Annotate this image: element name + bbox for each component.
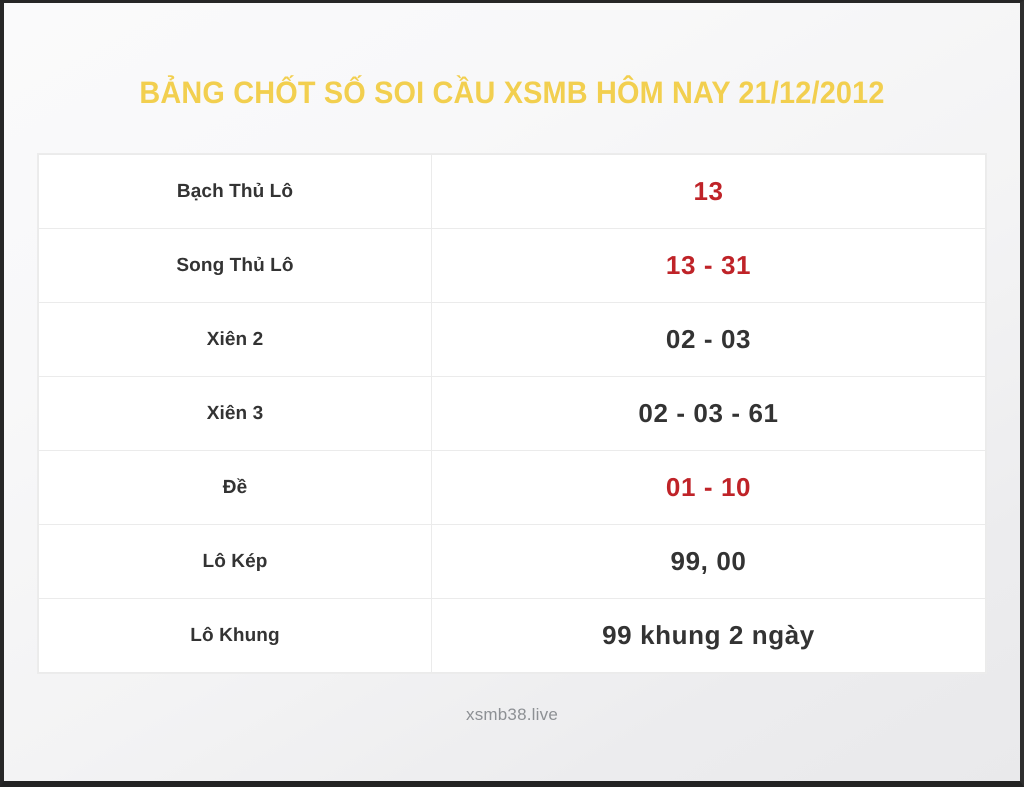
row-label: Xiên 3 xyxy=(39,377,432,451)
row-value: 99, 00 xyxy=(432,525,986,599)
table-row: Bạch Thủ Lô 13 xyxy=(39,155,986,229)
row-label: Xiên 2 xyxy=(39,303,432,377)
row-label: Đề xyxy=(39,451,432,525)
prediction-card: BẢNG CHỐT SỐ SOI CẦU XSMB HÔM NAY 21/12/… xyxy=(4,3,1020,781)
row-value: 13 - 31 xyxy=(432,229,986,303)
row-value: 02 - 03 - 61 xyxy=(432,377,986,451)
table-body: Bạch Thủ Lô 13 Song Thủ Lô 13 - 31 Xiên … xyxy=(39,155,986,673)
row-label: Lô Kép xyxy=(39,525,432,599)
row-label: Song Thủ Lô xyxy=(39,229,432,303)
table-row: Xiên 2 02 - 03 xyxy=(39,303,986,377)
row-label: Lô Khung xyxy=(39,599,432,673)
table-row: Xiên 3 02 - 03 - 61 xyxy=(39,377,986,451)
page-title: BẢNG CHỐT SỐ SOI CẦU XSMB HÔM NAY 21/12/… xyxy=(40,75,985,111)
row-value: 02 - 03 xyxy=(432,303,986,377)
row-value: 13 xyxy=(432,155,986,229)
table-row: Đề 01 - 10 xyxy=(39,451,986,525)
site-watermark: xsmb38.live xyxy=(4,705,1020,725)
lottery-prediction-table: Bạch Thủ Lô 13 Song Thủ Lô 13 - 31 Xiên … xyxy=(38,154,986,673)
table-row: Song Thủ Lô 13 - 31 xyxy=(39,229,986,303)
table-row: Lô Kép 99, 00 xyxy=(39,525,986,599)
table-row: Lô Khung 99 khung 2 ngày xyxy=(39,599,986,673)
row-label: Bạch Thủ Lô xyxy=(39,155,432,229)
row-value: 99 khung 2 ngày xyxy=(432,599,986,673)
row-value: 01 - 10 xyxy=(432,451,986,525)
page-frame: BẢNG CHỐT SỐ SOI CẦU XSMB HÔM NAY 21/12/… xyxy=(0,0,1024,787)
